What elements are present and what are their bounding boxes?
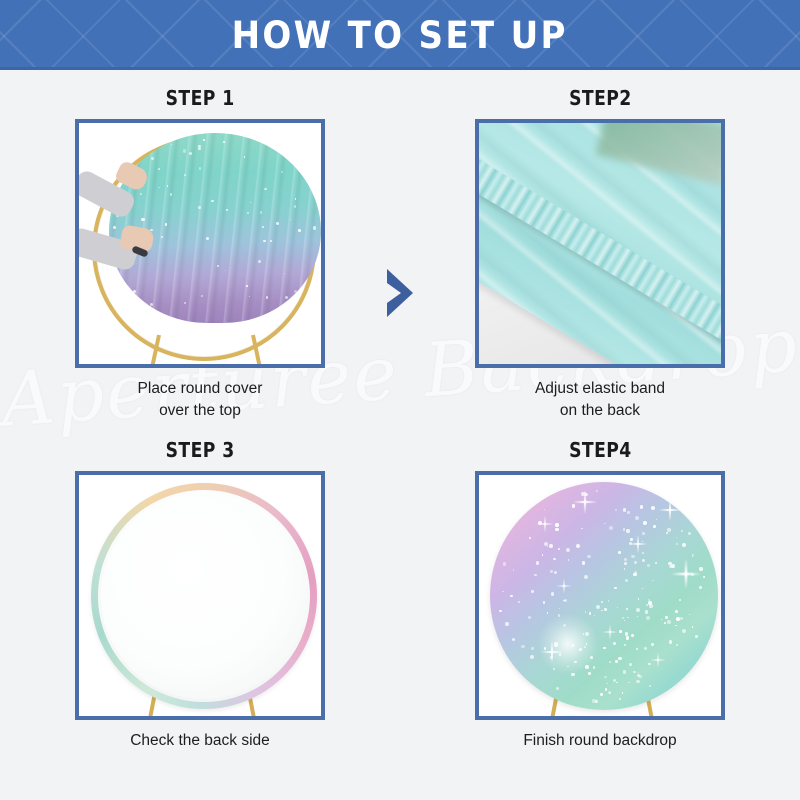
step-2-image-frame (475, 119, 725, 368)
star-sparkle-icon (602, 624, 617, 639)
step-4-caption-line-1: Finish round backdrop (523, 730, 676, 752)
star-sparkle-icon (671, 559, 701, 589)
star-field-decoration (490, 482, 718, 710)
star-sparkle-icon (536, 515, 553, 532)
step-card-2: STEP2 Adjust elastic band on the back (400, 70, 800, 422)
step-4-image-frame (475, 471, 725, 720)
step-2-label: STEP2 (569, 86, 632, 110)
star-sparkle-icon (659, 499, 682, 522)
star-sparkle-icon (573, 490, 598, 515)
step-1-caption-line-2: over the top (138, 400, 263, 422)
step-4-caption: Finish round backdrop (523, 730, 676, 752)
step-3-photo (79, 475, 321, 716)
step-1-label: STEP 1 (165, 86, 234, 110)
steps-row-bottom: STEP 3 Check the back side STEP4 (0, 422, 800, 752)
star-sparkle-icon (650, 652, 665, 667)
header-banner: HOW TO SET UP (0, 0, 800, 70)
steps-grid: STEP 1 Place round (0, 70, 800, 752)
step-card-3: STEP 3 Check the back side (0, 422, 400, 752)
step-card-1: STEP 1 Place round (0, 70, 400, 422)
steps-row-top: STEP 1 Place round (0, 70, 800, 422)
finished-backdrop-disc (490, 482, 718, 710)
lens-glow-decoration (538, 614, 598, 674)
step-1-caption-line-1: Place round cover (138, 378, 263, 400)
step-1-caption: Place round cover over the top (138, 378, 263, 422)
cover-back-white-face (101, 493, 307, 699)
step-3-image-frame (75, 471, 325, 720)
star-sparkle-icon (556, 578, 571, 593)
step-card-4: STEP4 Finish round backdrop (400, 422, 800, 752)
step-3-caption-line-1: Check the back side (130, 730, 270, 752)
step-3-caption: Check the back side (130, 730, 270, 752)
step-2-caption-line-2: on the back (535, 400, 665, 422)
step-2-caption-line-1: Adjust elastic band (535, 378, 665, 400)
star-sparkle-icon (628, 534, 647, 553)
step-4-label: STEP4 (569, 438, 632, 462)
page-title: HOW TO SET UP (232, 14, 568, 57)
step-2-caption: Adjust elastic band on the back (535, 378, 665, 422)
step-4-photo (479, 475, 721, 716)
step-3-label: STEP 3 (165, 438, 234, 462)
step-1-photo (79, 123, 321, 364)
step-2-photo (479, 123, 721, 364)
step-1-image-frame (75, 119, 325, 368)
chevron-right-icon-top (383, 267, 417, 319)
